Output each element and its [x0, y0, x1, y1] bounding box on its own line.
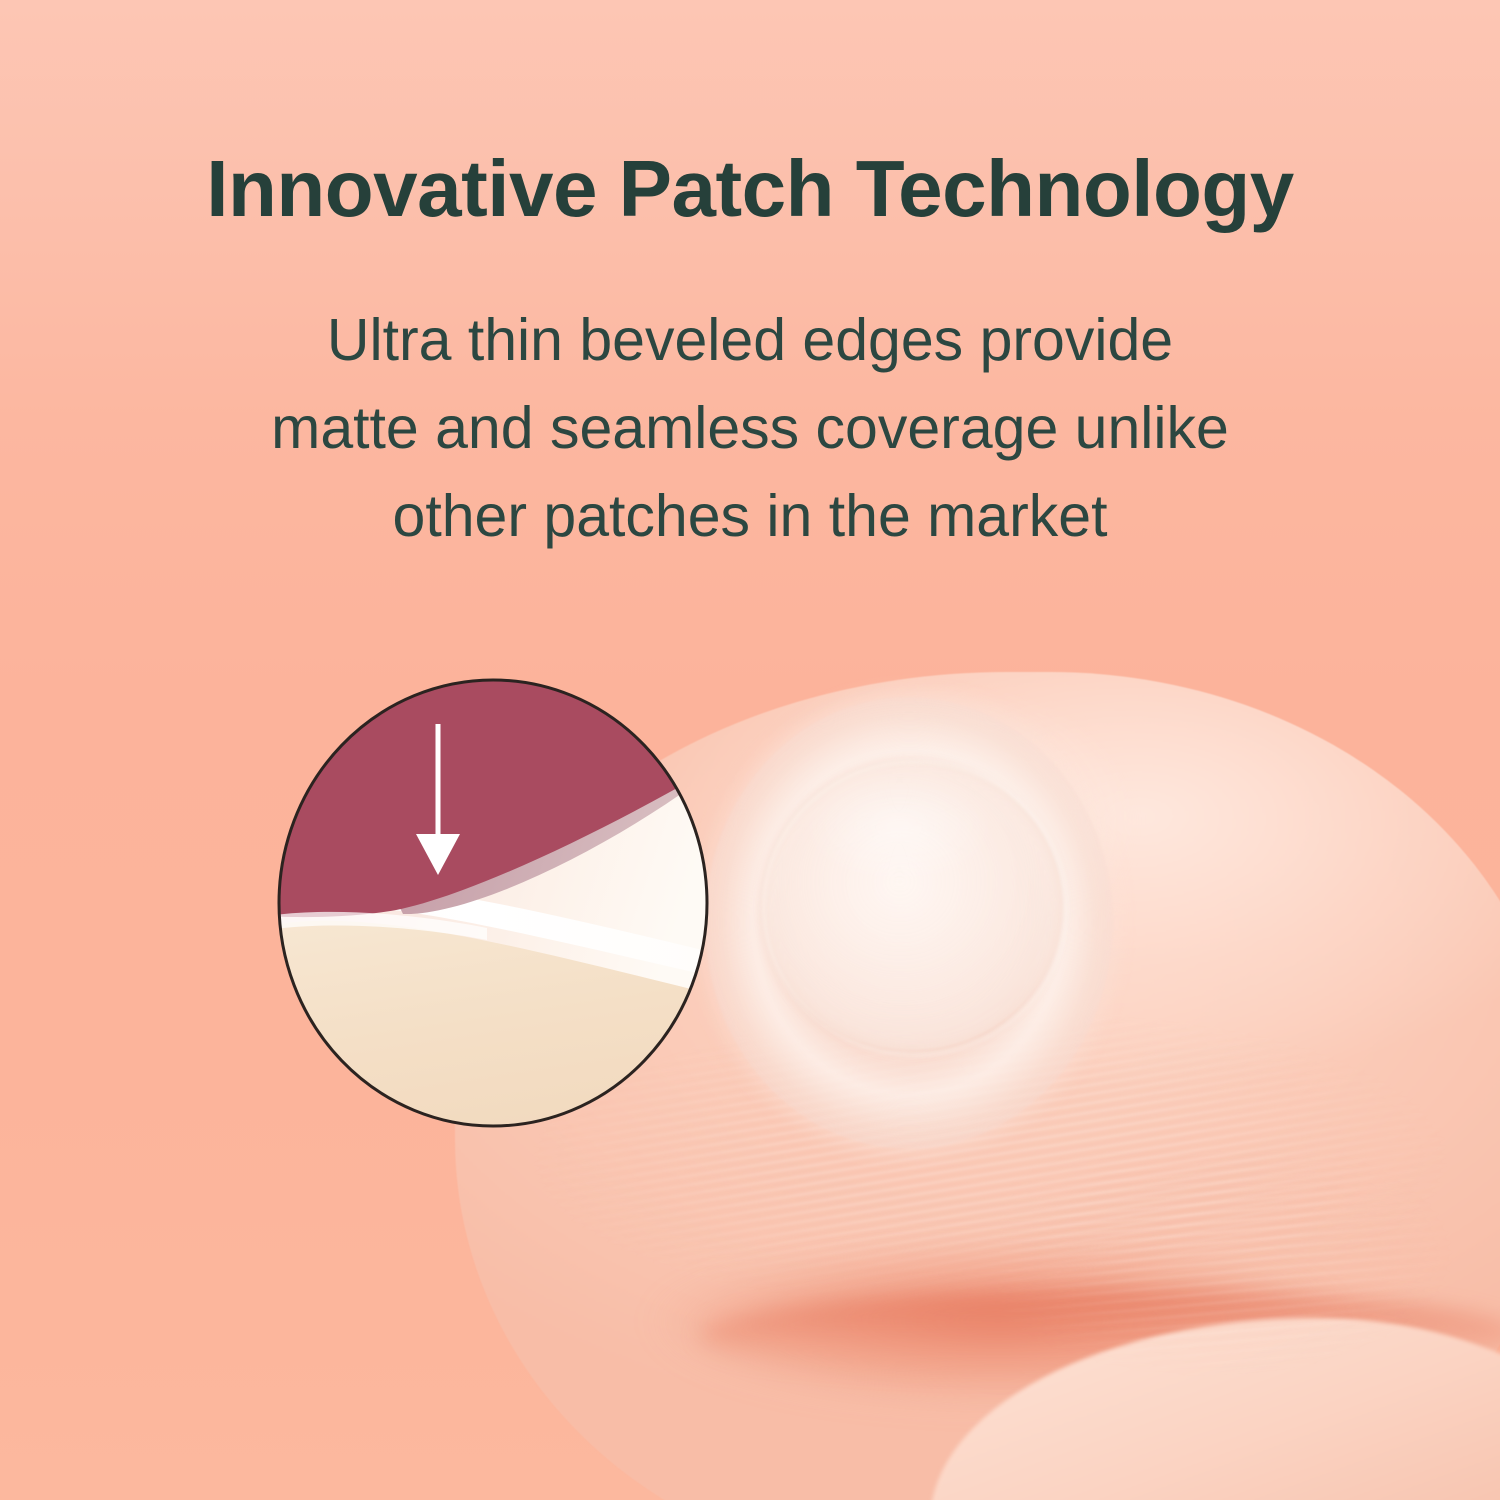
cross-section-diagram	[277, 678, 709, 1128]
subtitle-line-3: other patches in the market	[150, 472, 1350, 560]
page-title: Innovative Patch Technology	[0, 146, 1500, 232]
subtitle-line-1: Ultra thin beveled edges provide	[150, 296, 1350, 384]
patch-gloss-highlight	[800, 775, 1020, 905]
product-feature-banner: Innovative Patch Technology Ultra thin b…	[0, 0, 1500, 1500]
subtitle: Ultra thin beveled edges provide matte a…	[150, 296, 1350, 560]
skin-ridges-secondary	[1000, 1150, 1500, 1410]
subtitle-line-2: matte and seamless coverage unlike	[150, 384, 1350, 472]
